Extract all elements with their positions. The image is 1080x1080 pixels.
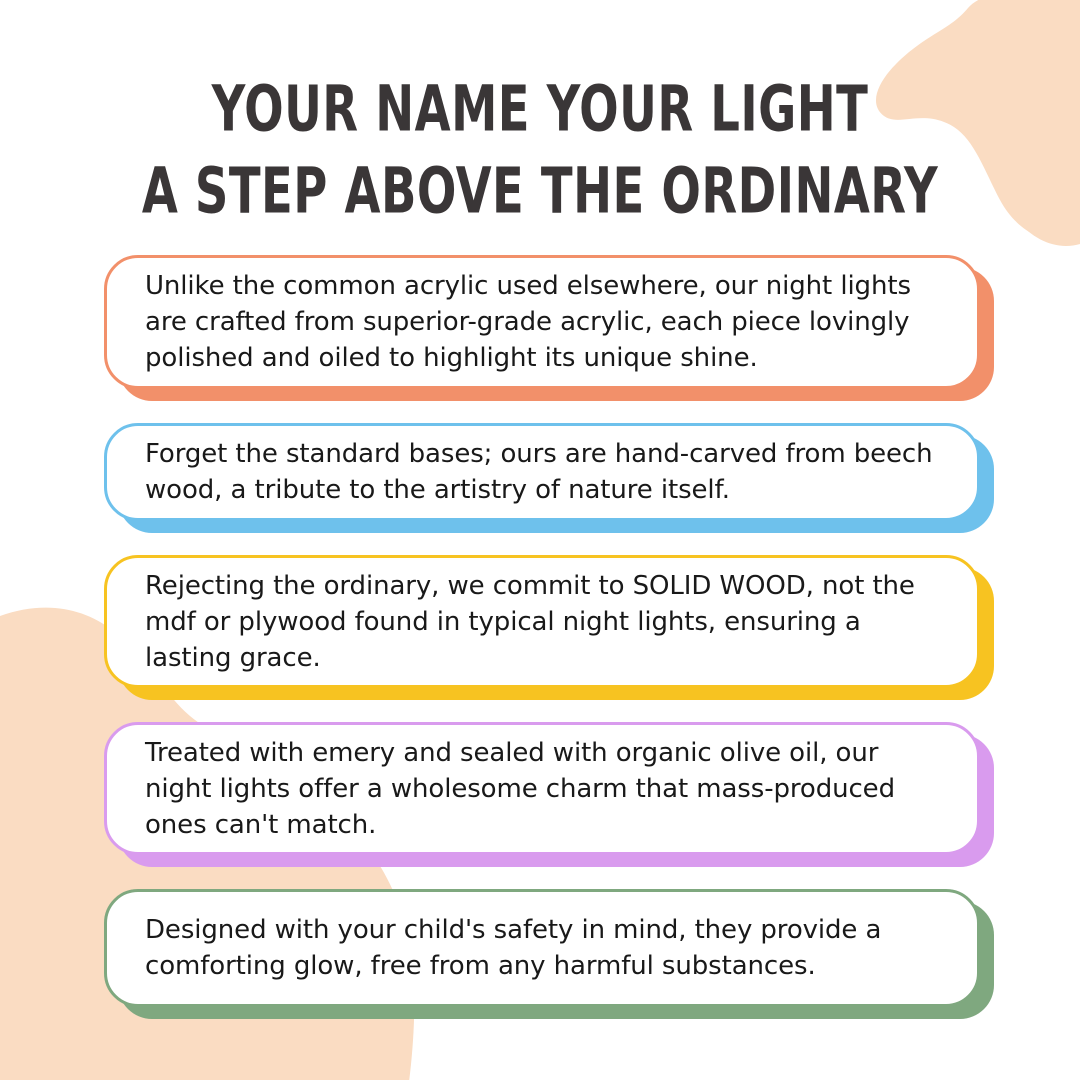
card-panel: Forget the standard bases; ours are hand… — [104, 423, 980, 521]
poster-canvas: YOUR NAME YOUR LIGHT A STEP ABOVE THE OR… — [0, 0, 1080, 1080]
title-line-2: A STEP ABOVE THE ORDINARY — [75, 152, 1005, 230]
card-text: Forget the standard bases; ours are hand… — [107, 436, 977, 508]
feature-card-olive-oil-finish: Treated with emery and sealed with organ… — [0, 720, 1080, 875]
card-text: Treated with emery and sealed with organ… — [107, 735, 977, 843]
title-line-1: YOUR NAME YOUR LIGHT — [75, 70, 1005, 148]
feature-card-beech-wood-base: Forget the standard bases; ours are hand… — [0, 421, 1080, 541]
feature-card-list: Unlike the common acrylic used elsewhere… — [0, 253, 1080, 1039]
feature-card-solid-wood: Rejecting the ordinary, we commit to SOL… — [0, 553, 1080, 708]
card-text: Unlike the common acrylic used elsewhere… — [107, 268, 977, 376]
card-panel: Treated with emery and sealed with organ… — [104, 722, 980, 855]
card-panel: Rejecting the ordinary, we commit to SOL… — [104, 555, 980, 688]
feature-card-child-safety: Designed with your child's safety in min… — [0, 887, 1080, 1027]
page-title: YOUR NAME YOUR LIGHT A STEP ABOVE THE OR… — [0, 70, 1080, 214]
feature-card-acrylic: Unlike the common acrylic used elsewhere… — [0, 253, 1080, 409]
card-panel: Designed with your child's safety in min… — [104, 889, 980, 1007]
card-panel: Unlike the common acrylic used elsewhere… — [104, 255, 980, 389]
card-text: Designed with your child's safety in min… — [107, 912, 977, 984]
card-text: Rejecting the ordinary, we commit to SOL… — [107, 568, 977, 676]
